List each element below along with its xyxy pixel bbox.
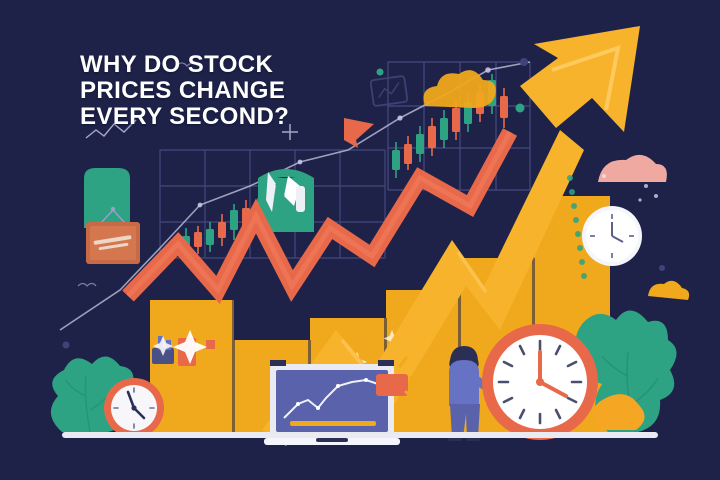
ground-baseline [62,432,658,438]
red-tag-on-laptop [376,374,408,396]
illustration-canvas: WHY DO STOCK PRICES CHANGE EVERY SECOND? [0,0,720,480]
wall-clock-small [104,378,164,438]
wall-clock-partial [582,206,642,266]
wall-clock-large [482,324,598,440]
green-block-left [84,168,130,228]
page-title: WHY DO STOCK PRICES CHANGE EVERY SECOND? [80,52,340,130]
